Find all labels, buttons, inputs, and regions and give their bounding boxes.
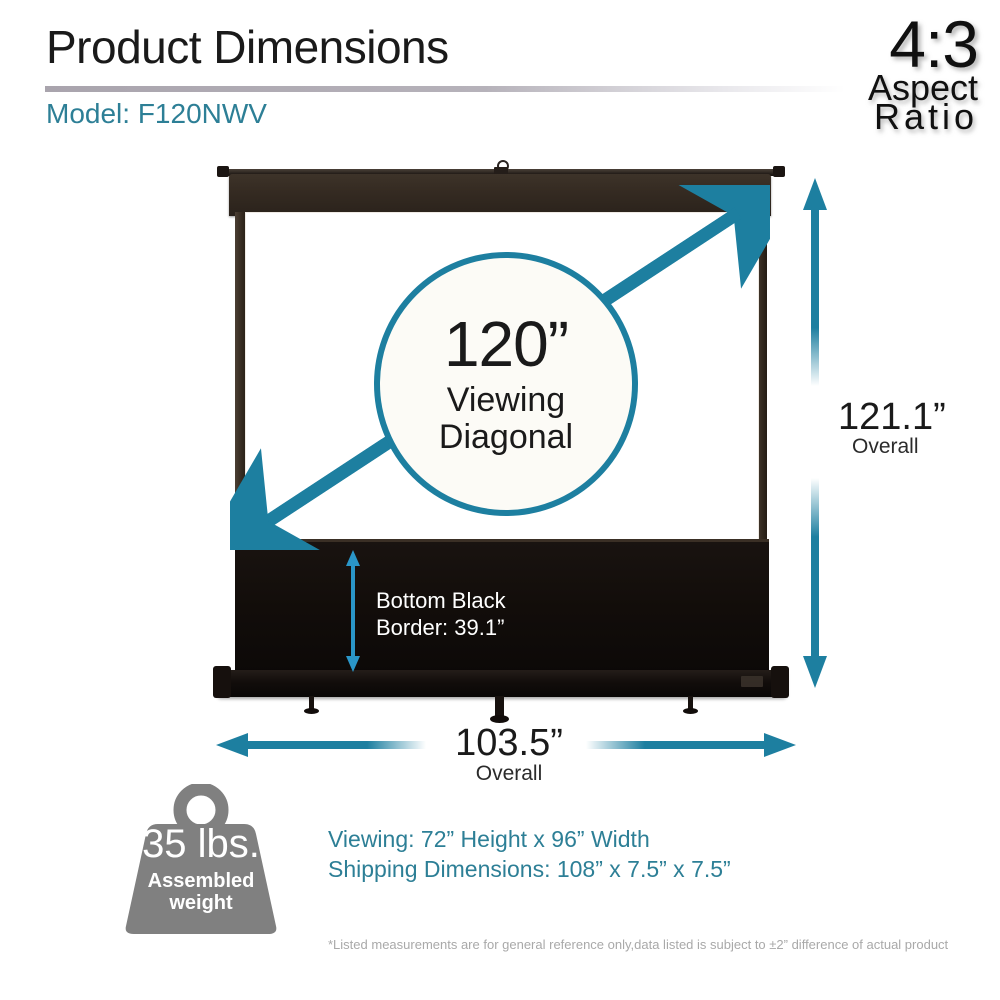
- viewing-diagonal-label-line2: Diagonal: [439, 419, 573, 456]
- overall-width-label: 103.5” Overall: [424, 724, 594, 784]
- screen-rail-endcap-left: [217, 166, 229, 177]
- overall-width-arrow-right: [586, 730, 798, 760]
- overall-height-arrow-bottom: [800, 478, 830, 690]
- overall-width-sub: Overall: [424, 763, 594, 784]
- overall-width-value: 103.5”: [455, 722, 563, 764]
- overall-height-label: 121.1” Overall: [838, 398, 946, 458]
- model-label: Model: F120NWV: [46, 98, 267, 130]
- weight-icon: [96, 784, 306, 934]
- aspect-ratio-value: 4:3: [868, 14, 978, 75]
- screen-foot-right: [688, 696, 693, 710]
- screen-foot-center: [495, 696, 504, 718]
- title-divider: [45, 86, 845, 92]
- assembled-weight-badge: 35 lbs. Assembled weight: [96, 784, 306, 934]
- overall-height-arrow-top: [800, 176, 830, 386]
- overall-height-value: 121.1”: [838, 396, 946, 438]
- overall-width-arrow-left: [214, 730, 426, 760]
- page-title: Product Dimensions: [46, 22, 449, 73]
- screen-foot-left: [309, 696, 314, 710]
- screen-rail-endcap-right: [773, 166, 785, 177]
- bottom-border-label-line1: Bottom Black: [376, 588, 506, 615]
- aspect-ratio-block: 4:3 Aspect Ratio: [868, 14, 978, 133]
- bottom-border-label: Bottom Black Border: 39.1”: [376, 588, 506, 642]
- bottom-border-measure-arrow: [340, 548, 366, 674]
- bottom-border-label-line2: Border: 39.1”: [376, 615, 506, 642]
- screen-top-valance: [229, 174, 771, 216]
- spec-text-block: Viewing: 72” Height x 96” Width Shipping…: [328, 824, 731, 885]
- footnote-disclaimer: *Listed measurements are for general ref…: [328, 937, 948, 952]
- base-endcap-left: [213, 666, 231, 698]
- base-endcap-right: [771, 666, 789, 698]
- aspect-ratio-word-ratio: Ratio: [868, 100, 978, 133]
- viewing-diagonal-value: 120”: [444, 312, 568, 376]
- viewing-diagonal-callout: 120” Viewing Diagonal: [374, 252, 638, 516]
- brand-logo-plate: [741, 676, 763, 687]
- overall-height-sub: Overall: [852, 436, 946, 458]
- screen-base-bar: [217, 670, 787, 697]
- spec-shipping-line: Shipping Dimensions: 108” x 7.5” x 7.5”: [328, 854, 731, 884]
- hook-icon: [492, 160, 510, 174]
- viewing-diagonal-label-line1: Viewing: [447, 382, 565, 419]
- spec-viewing-line: Viewing: 72” Height x 96” Width: [328, 824, 731, 854]
